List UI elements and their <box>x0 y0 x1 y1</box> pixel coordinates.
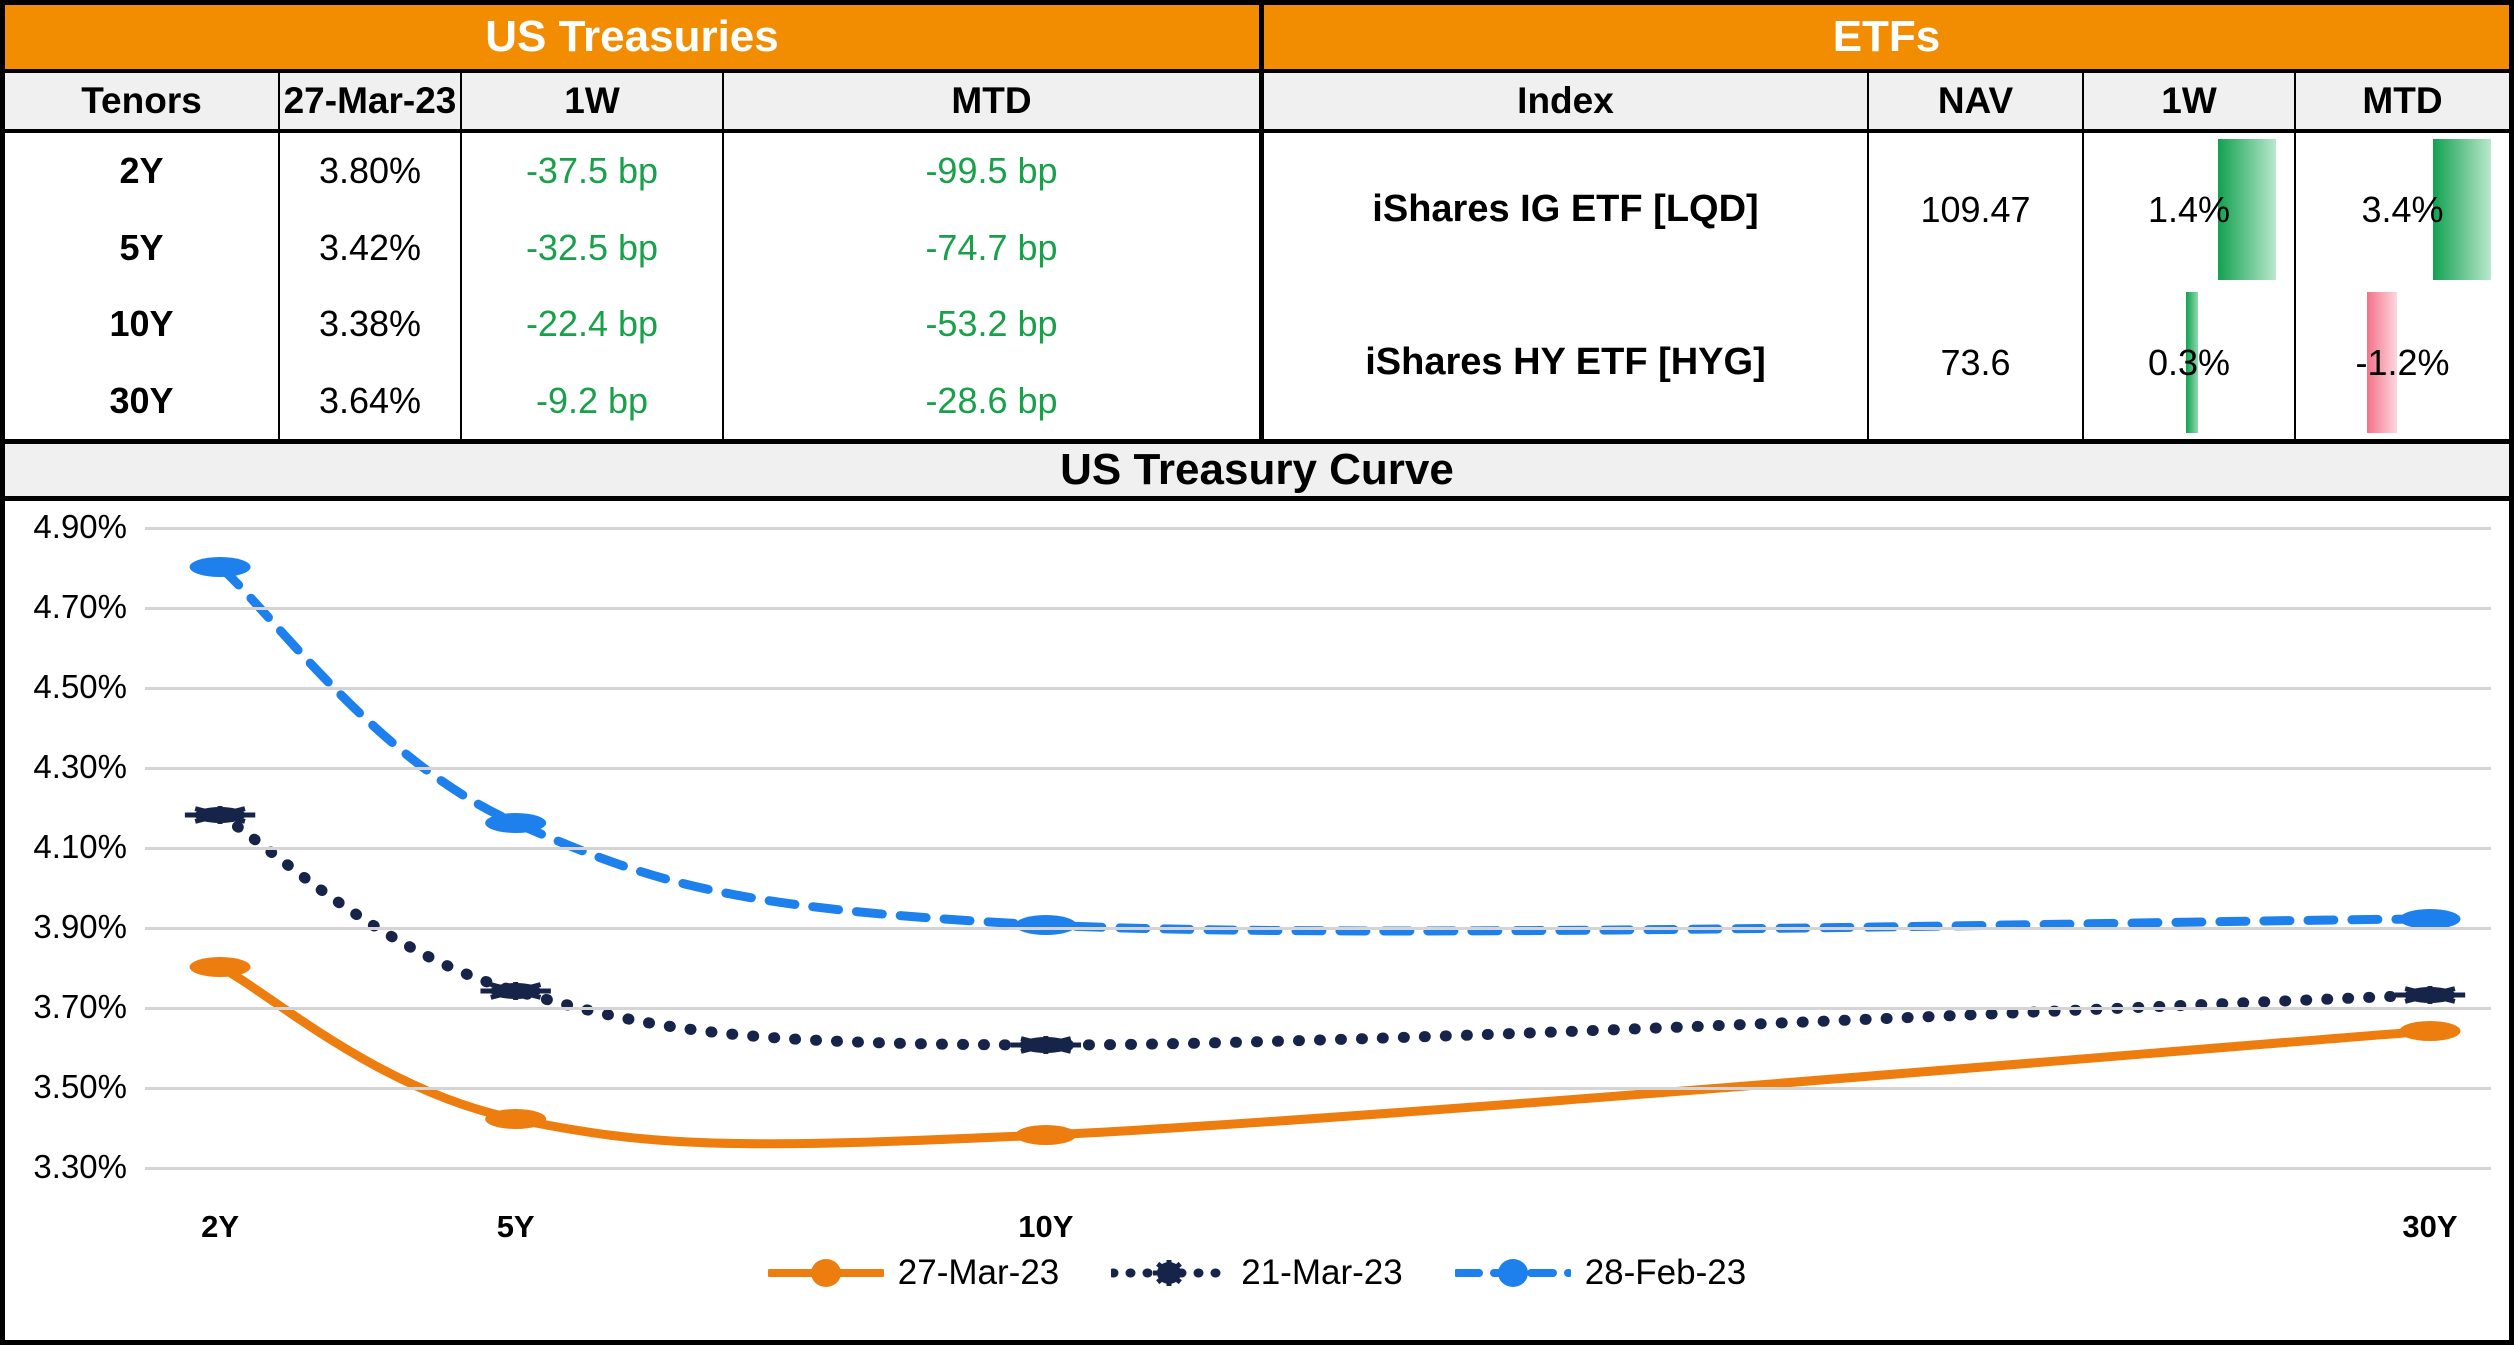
data-point-marker <box>2400 909 2461 929</box>
gridline <box>145 527 2491 530</box>
y-axis-tick-label: 3.90% <box>33 908 127 946</box>
data-point-marker <box>2395 986 2465 1004</box>
legend-swatch-icon <box>768 1256 884 1290</box>
table-row: -28.6 bp <box>724 363 1259 440</box>
table-row: -22.4 bp <box>462 286 722 363</box>
table-row: 3.38% <box>280 286 460 363</box>
us-treasuries-banner: US Treasuries <box>5 5 1259 73</box>
etfs-body: iShares IG ETF [LQD] iShares HY ETF [HYG… <box>1264 133 2509 439</box>
data-point-marker <box>485 813 546 833</box>
column-tenors: 2Y 5Y 10Y 30Y <box>5 133 280 439</box>
list-item: 1.4% <box>2084 133 2294 286</box>
table-row: -32.5 bp <box>462 210 722 287</box>
etf-1w-value: 1.4% <box>2148 189 2230 231</box>
chart-line-28-feb-23 <box>220 567 2430 931</box>
y-axis-tick-label: 3.30% <box>33 1148 127 1186</box>
column-etf-nav: 109.47 73.6 <box>1869 133 2084 439</box>
x-axis-tick-label: 10Y <box>1018 1209 1073 1245</box>
data-point-marker <box>190 557 251 577</box>
etfs-banner: ETFs <box>1264 5 2509 73</box>
gridline <box>145 1167 2491 1170</box>
list-item: -1.2% <box>2296 286 2509 439</box>
gridline <box>145 767 2491 770</box>
column-etf-index: iShares IG ETF [LQD] iShares HY ETF [HYG… <box>1264 133 1869 439</box>
chart-plot-area: 4.90%4.70%4.50%4.30%4.10%3.90%3.70%3.50%… <box>145 527 2491 1167</box>
etfs-header-row: Index NAV 1W MTD <box>1264 73 2509 133</box>
y-axis-tick-label: 3.70% <box>33 988 127 1026</box>
list-item: 3.4% <box>2296 133 2509 286</box>
treasury-dashboard: US Treasuries Tenors 27-Mar-23 1W MTD 2Y… <box>0 0 2514 1345</box>
table-row: -37.5 bp <box>462 133 722 210</box>
y-axis-tick-label: 4.50% <box>33 668 127 706</box>
legend-item-27-mar-23[interactable]: 27-Mar-23 <box>768 1253 1059 1293</box>
gridline <box>145 847 2491 850</box>
table-row: 2Y <box>5 133 278 210</box>
list-item: 109.47 <box>1869 133 2082 286</box>
column-etf-1w: 1.4% 0.3% <box>2084 133 2296 439</box>
table-row: 3.42% <box>280 210 460 287</box>
table-row: 10Y <box>5 286 278 363</box>
data-point-marker <box>190 957 251 977</box>
table-row: 5Y <box>5 210 278 287</box>
header-1w: 1W <box>462 73 724 129</box>
column-1w-change: -37.5 bp -32.5 bp -22.4 bp -9.2 bp <box>462 133 724 439</box>
chart-title: US Treasury Curve <box>5 439 2509 501</box>
table-row: 3.64% <box>280 363 460 440</box>
list-item: iShares IG ETF [LQD] <box>1264 133 1867 286</box>
header-date: 27-Mar-23 <box>280 73 462 129</box>
data-point-marker <box>1015 915 1076 935</box>
etf-1w-value: 0.3% <box>2148 342 2230 384</box>
legend-label: 21-Mar-23 <box>1241 1253 1402 1293</box>
data-point-marker <box>1011 1036 1081 1054</box>
legend-label: 28-Feb-23 <box>1585 1253 1746 1293</box>
x-axis-tick-label: 2Y <box>201 1209 239 1245</box>
treasuries-body: 2Y 5Y 10Y 30Y 3.80% 3.42% 3.38% 3.64% -3… <box>5 133 1259 439</box>
gridline <box>145 687 2491 690</box>
data-point-marker <box>485 1109 546 1129</box>
column-mtd-change: -99.5 bp -74.7 bp -53.2 bp -28.6 bp <box>724 133 1259 439</box>
summary-tables: US Treasuries Tenors 27-Mar-23 1W MTD 2Y… <box>5 5 2509 439</box>
header-tenors: Tenors <box>5 73 280 129</box>
data-point-marker <box>480 982 550 1000</box>
table-row: -74.7 bp <box>724 210 1259 287</box>
header-nav: NAV <box>1869 73 2084 129</box>
list-item: 73.6 <box>1869 286 2082 439</box>
data-point-marker <box>2400 1021 2461 1041</box>
legend-item-28-feb-23[interactable]: 28-Feb-23 <box>1455 1253 1746 1293</box>
legend-swatch-icon <box>1111 1256 1227 1290</box>
legend-swatch-icon <box>1455 1256 1571 1290</box>
y-axis-tick-label: 4.90% <box>33 508 127 546</box>
table-row: -9.2 bp <box>462 363 722 440</box>
table-row: -99.5 bp <box>724 133 1259 210</box>
gridline <box>145 607 2491 610</box>
gridline <box>145 927 2491 930</box>
etf-mtd-value: -1.2% <box>2355 342 2449 384</box>
list-item: 0.3% <box>2084 286 2294 439</box>
header-index: Index <box>1264 73 1869 129</box>
header-etf-mtd: MTD <box>2296 73 2509 129</box>
chart-line-27-mar-23 <box>220 967 2430 1144</box>
legend-label: 27-Mar-23 <box>898 1253 1059 1293</box>
table-row: 30Y <box>5 363 278 440</box>
y-axis-tick-label: 3.50% <box>33 1068 127 1106</box>
data-point-marker <box>185 806 255 824</box>
treasuries-header-row: Tenors 27-Mar-23 1W MTD <box>5 73 1259 133</box>
data-point-marker <box>1015 1125 1076 1145</box>
header-mtd: MTD <box>724 73 1259 129</box>
column-etf-mtd: 3.4% -1.2% <box>2296 133 2509 439</box>
etf-mtd-value: 3.4% <box>2361 189 2443 231</box>
column-yield: 3.80% 3.42% 3.38% 3.64% <box>280 133 462 439</box>
gridline <box>145 1087 2491 1090</box>
header-etf-1w: 1W <box>2084 73 2296 129</box>
y-axis-tick-label: 4.70% <box>33 588 127 626</box>
legend-item-21-mar-23[interactable]: 21-Mar-23 <box>1111 1253 1402 1293</box>
list-item: iShares HY ETF [HYG] <box>1264 286 1867 439</box>
chart-legend: 27-Mar-2321-Mar-2328-Feb-23 <box>5 1253 2509 1293</box>
gridline <box>145 1007 2491 1010</box>
y-axis-tick-label: 4.10% <box>33 828 127 866</box>
table-row: 3.80% <box>280 133 460 210</box>
y-axis-tick-label: 4.30% <box>33 748 127 786</box>
x-axis-tick-label: 30Y <box>2402 1209 2457 1245</box>
x-axis-tick-label: 5Y <box>497 1209 535 1245</box>
table-row: -53.2 bp <box>724 286 1259 363</box>
etfs-table: ETFs Index NAV 1W MTD iShares IG ETF [LQ… <box>1264 5 2509 439</box>
us-treasury-curve-chart: 4.90%4.70%4.50%4.30%4.10%3.90%3.70%3.50%… <box>5 501 2509 1340</box>
us-treasuries-table: US Treasuries Tenors 27-Mar-23 1W MTD 2Y… <box>5 5 1264 439</box>
